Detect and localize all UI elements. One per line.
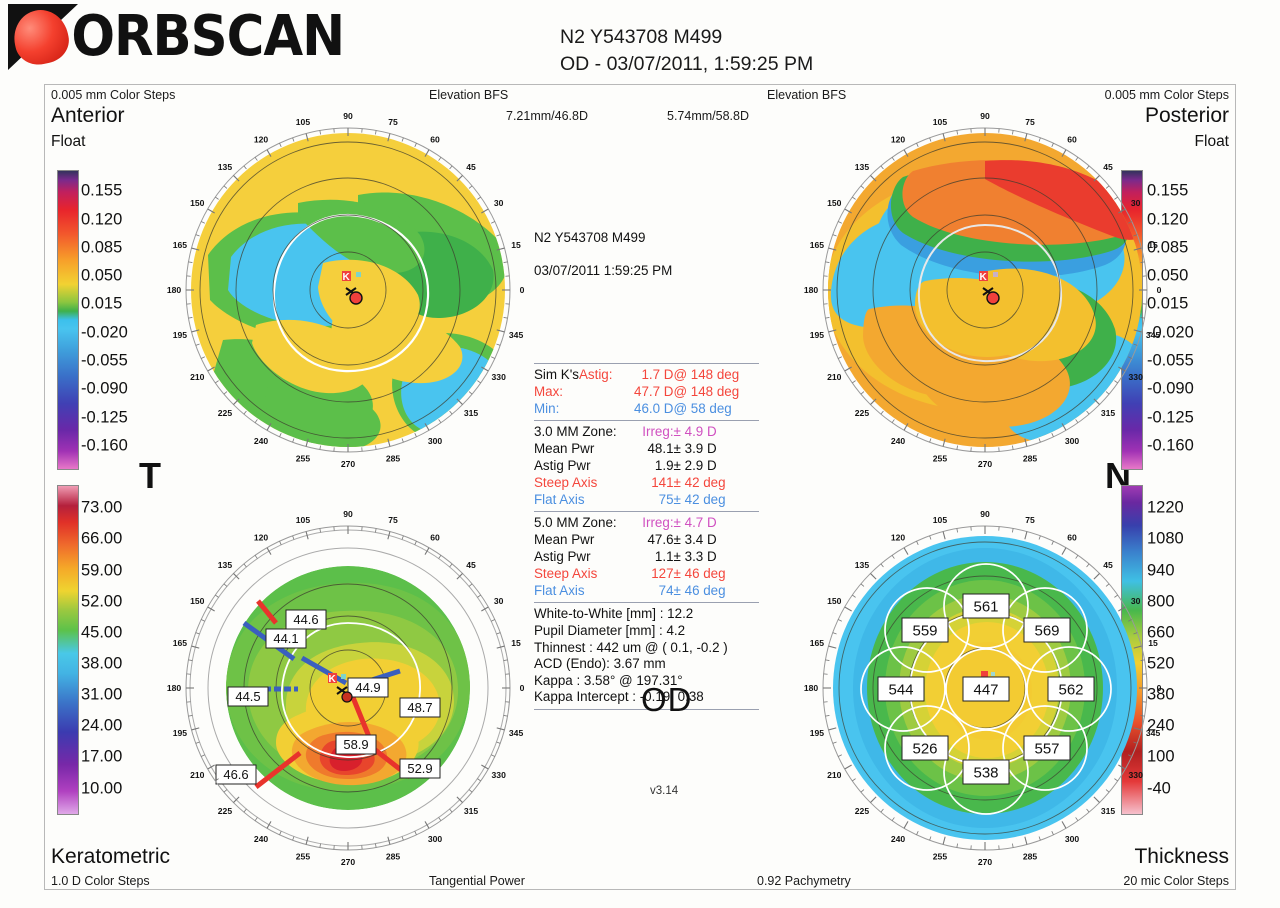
dial-tick (496, 742, 500, 743)
dial-tick (1094, 797, 1100, 803)
dial-tick (224, 186, 227, 189)
dial-tick (188, 660, 192, 661)
zone-row-value: 127 (626, 566, 674, 583)
zone-row-label: Flat Axis (534, 583, 626, 600)
biometry-line: Thinnest : 442 um @ ( 0.1, -0.2 ) (534, 640, 759, 657)
colorbar-tick-label: -0.125 (81, 408, 128, 427)
dial-tick (491, 357, 495, 359)
dial-tick (196, 235, 200, 236)
dial-tick (201, 755, 205, 757)
zone3-table: 3.0 MM Zone:Irreg:± 4.9 DMean Pwr48.1± 3… (534, 424, 759, 508)
dial-tick (1012, 528, 1013, 532)
dial-tick (838, 357, 842, 359)
dial-tick (491, 620, 495, 622)
dial-tick (1128, 222, 1132, 224)
report-header: ORBSCAN N2 Y543708 M499 OD - 03/07/2011,… (0, 0, 1280, 84)
map-anterior-elevation[interactable]: K 01530456075901051201351501651801952102… (148, 85, 548, 495)
dial-tick (1087, 809, 1090, 812)
dial-tick (1141, 660, 1145, 661)
colorbar-tick-label: 10.00 (81, 779, 122, 798)
dial-tick (833, 742, 837, 743)
dial-degree-label: 285 (1023, 851, 1038, 861)
dial-degree-label: 195 (810, 728, 825, 738)
dial-tick (1076, 419, 1078, 422)
dial-degree-label: 165 (173, 638, 188, 648)
dial-tick (957, 528, 958, 532)
dial-tick (825, 715, 829, 716)
pachymetry-value-label: 569 (1034, 623, 1059, 640)
dial-tick (244, 564, 247, 567)
sim-k-table: Sim K'sAstig:1.7 D@ 148 degMax:47.7 D@ 1… (534, 367, 759, 417)
dial-tick (1106, 392, 1109, 395)
dial-tick (1012, 130, 1013, 134)
dial-tick (861, 790, 864, 793)
zone-row-value: 1.1 (626, 549, 674, 566)
dial-degree-label: 75 (388, 515, 398, 525)
colorbar-tick-label: 0.015 (81, 295, 122, 314)
dial-tick (1052, 541, 1054, 545)
dial-tick (852, 779, 855, 781)
zone-row-label: Astig Pwr (534, 549, 626, 566)
dial-degree-label: 300 (428, 436, 443, 446)
zone-row-value: 1.9 (626, 458, 674, 475)
dial-degree-label: 135 (855, 162, 870, 172)
dial-degree-label: 180 (804, 683, 819, 693)
keratometric-value-label: 44.6 (293, 612, 318, 627)
dial-degree-label: 0 (1157, 285, 1162, 295)
keratometric-value-label: 48.7 (407, 700, 432, 715)
dial-degree-label: 345 (1146, 330, 1161, 340)
dial-tick (1025, 532, 1027, 540)
dial-tick (845, 607, 852, 611)
zone-row-sd: ± 42 deg (674, 492, 759, 509)
dial-tick (201, 357, 205, 359)
dial-tick (425, 821, 429, 828)
dial-tick (1141, 715, 1145, 716)
dial-tick (861, 584, 864, 587)
pachymetry-value-label: 557 (1034, 741, 1059, 758)
dial-tick (825, 660, 829, 661)
dial-tick (1128, 620, 1132, 622)
dial-tick (320, 844, 321, 848)
dial-degree-label: 240 (891, 834, 906, 844)
dial-tick (1106, 584, 1109, 587)
colorbar-tick-label: -0.055 (81, 352, 128, 371)
zone-row-label: Steep Axis (534, 566, 626, 583)
dial-tick (825, 262, 829, 263)
dial-tick (852, 595, 855, 597)
dial-tick (208, 765, 215, 769)
dial-degree-label: 120 (891, 135, 906, 145)
dial-tick (1133, 344, 1137, 345)
dial-degree-label: 210 (827, 770, 842, 780)
dial-tick (852, 381, 855, 383)
dial-degree-label: 75 (1025, 515, 1035, 525)
dial-tick (439, 817, 441, 820)
dial-tick (1025, 837, 1027, 845)
zone-row: Astig Pwr1.9± 2.9 D (534, 458, 759, 475)
dial-tick (917, 831, 919, 835)
dial-degree-label: 270 (978, 857, 993, 867)
zone-row-label: Astig Pwr (534, 458, 626, 475)
dial-tick (224, 790, 227, 793)
dial-degree-label: 30 (1131, 596, 1141, 606)
dial-tick (957, 844, 958, 848)
simk-axis: @ 148 deg (673, 367, 759, 384)
dial-degree-label: 45 (466, 162, 476, 172)
dial-tick (1128, 357, 1132, 359)
anterior-subtitle: Float (51, 133, 85, 151)
dial-tick (477, 779, 480, 781)
dial-tick (1114, 197, 1117, 199)
zone-row-label: Mean Pwr (534, 441, 626, 458)
dial-tick (244, 166, 247, 169)
dial-degree-label: 315 (464, 408, 479, 418)
keratometric-value-label: 58.9 (343, 737, 368, 752)
dial-tick (504, 262, 508, 263)
zone-row-sd: ± 3.3 D (674, 549, 759, 566)
colorbar-tick-label: 0.120 (81, 210, 122, 229)
dial-degree-label: 105 (933, 515, 948, 525)
dial-tick (1062, 548, 1066, 555)
colorbar-tick-label: 66.00 (81, 530, 122, 549)
dial-tick (201, 620, 205, 622)
dial-tick (1133, 235, 1137, 236)
dial-degree-label: 270 (341, 459, 356, 469)
dial-tick (425, 548, 429, 555)
colorbar-tick-label: 59.00 (81, 561, 122, 580)
keratometric-value-label: 44.9 (355, 680, 380, 695)
dial-tick (450, 411, 453, 414)
dial-tick (415, 143, 417, 147)
dial-tick (1094, 573, 1100, 579)
dial-degree-label: 225 (855, 806, 870, 816)
colorbar-tick-label: 45.00 (81, 623, 122, 642)
zone-row: Flat Axis75± 42 deg (534, 492, 759, 509)
zone-row-sd: ± 46 deg (674, 566, 759, 583)
dial-tick (439, 555, 441, 558)
dial-degree-label: 210 (827, 372, 842, 382)
dial-tick (320, 130, 321, 134)
dial-tick (917, 433, 919, 437)
orbscan-report-page: ORBSCAN N2 Y543708 M499 OD - 03/07/2011,… (0, 0, 1280, 908)
dial-degree-label: 255 (933, 453, 948, 463)
dial-tick (838, 755, 842, 757)
keratometric-value-label: 44.5 (235, 689, 260, 704)
dial-tick (375, 528, 376, 532)
dial-tick (838, 620, 842, 622)
dial-degree-label: 285 (386, 851, 401, 861)
dial-tick (1118, 607, 1125, 611)
dial-tick (1118, 765, 1125, 769)
posterior-subtitle: Float (1195, 133, 1229, 151)
zone-irreg-label: Irreg: (626, 515, 674, 532)
zone-irreg-label: Irreg: (626, 424, 674, 441)
dial-degree-label: 285 (386, 453, 401, 463)
dial-tick (244, 411, 247, 414)
dial-degree-label: 240 (254, 834, 269, 844)
zone-row-sd: ± 3.9 D (674, 441, 759, 458)
dial-degree-label: 255 (296, 851, 311, 861)
dial-tick (1012, 844, 1013, 848)
dial-tick (477, 197, 480, 199)
dial-tick (957, 130, 958, 134)
dial-tick (1052, 143, 1054, 147)
dial-tick (930, 138, 931, 142)
dial-tick (496, 344, 500, 345)
dial-tick (402, 138, 403, 142)
svg-text:K: K (980, 272, 988, 283)
dial-tick (201, 222, 205, 224)
svg-text:K: K (343, 272, 351, 283)
biometry-line: White-to-White [mm] : 12.2 (534, 606, 759, 623)
posterior-bfs: 5.74mm/58.8D (667, 109, 749, 123)
dial-tick (208, 607, 215, 611)
dial-degree-label: 105 (296, 117, 311, 127)
dial-degree-label: 240 (254, 436, 269, 446)
keratometric-color-steps: 1.0 D Color Steps (51, 874, 150, 888)
dial-degree-label: 225 (218, 408, 233, 418)
dial-tick (870, 797, 876, 803)
dial-tick (504, 660, 508, 661)
dial-tick (943, 532, 945, 540)
dial-degree-label: 15 (1148, 638, 1158, 648)
map-keratometric-tangential[interactable]: 44.644.144.944.548.758.952.946.6 K 01530… (148, 483, 548, 893)
simk-row: Min:46.0 D@ 58 deg (534, 401, 759, 418)
zone-row-label: Steep Axis (534, 475, 626, 492)
colorbar-anterior-elevation: 0.1550.1200.0850.0500.015-0.020-0.055-0.… (57, 170, 161, 470)
dial-tick (1114, 381, 1117, 383)
pachymetry-value-label: 562 (1058, 682, 1083, 699)
colorbar-tick-label: -0.160 (81, 436, 128, 455)
dial-tick (1087, 564, 1090, 567)
dial-tick (267, 821, 271, 828)
dial-tick (892, 817, 894, 820)
zone-row-value: 48.1 (626, 441, 674, 458)
dial-degree-label: 195 (173, 728, 188, 738)
dial-degree-label: 75 (388, 117, 398, 127)
dial-degree-label: 90 (980, 509, 990, 519)
dial-degree-label: 45 (466, 560, 476, 570)
simk-axis: @ 58 deg (673, 401, 759, 418)
dial-degree-label: 165 (173, 240, 188, 250)
dial-tick (415, 541, 417, 545)
header-patient-info: N2 Y543708 M499 OD - 03/07/2011, 1:59:25… (560, 24, 813, 78)
zone-row: Mean Pwr48.1± 3.9 D (534, 441, 759, 458)
panel-patient-id: N2 Y543708 M499 (534, 230, 759, 247)
colorbar-tick-label: 24.00 (81, 717, 122, 736)
dial-tick (829, 728, 837, 730)
dial-degree-label: 180 (167, 683, 182, 693)
dial-tick (196, 633, 200, 634)
dial-tick (829, 646, 837, 648)
zone-row-label: Flat Axis (534, 492, 626, 509)
dial-degree-label: 60 (1067, 533, 1077, 543)
dial-tick (196, 742, 200, 743)
dial-tick (1133, 633, 1137, 634)
dial-degree-label: 15 (1148, 240, 1158, 250)
colorbar-keratometric: 73.0066.0059.0052.0045.0038.0031.0024.00… (57, 485, 161, 815)
simk-heading: Sim K'sAstig: (534, 367, 626, 384)
simk-value: 47.7 D (626, 384, 674, 401)
dial-tick (255, 555, 257, 558)
dial-tick (1087, 411, 1090, 414)
dial-degree-label: 120 (254, 533, 269, 543)
dial-degree-label: 30 (494, 596, 504, 606)
dial-tick (1114, 595, 1117, 597)
map-posterior-elevation[interactable]: K 01530456075901051201351501651801952102… (785, 85, 1185, 495)
zone-row-value: 141 (626, 475, 674, 492)
dial-degree-label: 0 (520, 285, 525, 295)
dial-tick (375, 130, 376, 134)
dial-tick (469, 392, 472, 395)
dial-tick (930, 836, 931, 840)
simk-row: Max:47.7 D@ 148 deg (534, 384, 759, 401)
colorbar-gradient-elevation-left (57, 170, 79, 470)
zone-row-value: 47.6 (626, 532, 674, 549)
dial-degree-label: 135 (855, 560, 870, 570)
biometry-line: ACD (Endo): 3.67 mm (534, 656, 759, 673)
dial-degree-label: 30 (494, 198, 504, 208)
dial-degree-label: 105 (296, 515, 311, 525)
zone-row-sd: ± 42 deg (674, 475, 759, 492)
map-pachymetry-thickness[interactable]: 447561569559544562526557538 015304560759… (785, 483, 1185, 893)
colorbar-tick-label: 52.00 (81, 592, 122, 611)
dial-tick (469, 584, 472, 587)
dial-tick (833, 633, 837, 634)
dial-tick (943, 837, 945, 845)
teardrop-logo-icon (8, 4, 78, 70)
dial-tick (293, 536, 294, 540)
dial-degree-label: 225 (855, 408, 870, 418)
pachymetry-value-label: 447 (973, 682, 998, 699)
dial-tick (469, 790, 472, 793)
dial-tick (892, 157, 894, 160)
simk-value: 46.0 D (626, 401, 674, 418)
dial-tick (1076, 555, 1078, 558)
zone-row-label: Mean Pwr (534, 532, 626, 549)
dial-degree-label: 225 (218, 806, 233, 816)
header-patient-line: N2 Y543708 M499 (560, 24, 813, 51)
dial-tick (415, 433, 417, 437)
dial-degree-label: 180 (167, 285, 182, 295)
panel-exam-datetime: 03/07/2011 1:59:25 PM (534, 263, 759, 280)
dial-degree-label: 180 (804, 285, 819, 295)
dial-tick (504, 715, 508, 716)
keratometric-value-label: 52.9 (407, 761, 432, 776)
dial-degree-label: 90 (343, 111, 353, 121)
dial-degree-label: 270 (978, 459, 993, 469)
dial-degree-label: 150 (190, 198, 205, 208)
pachymetry-value-label: 538 (973, 765, 998, 782)
dial-tick (904, 548, 908, 555)
dial-tick (196, 344, 200, 345)
dial-tick (1128, 755, 1132, 757)
dial-tick (833, 344, 837, 345)
dial-degree-label: 30 (1131, 198, 1141, 208)
pachymetry-value-label: 561 (973, 599, 998, 616)
dial-degree-label: 15 (511, 240, 521, 250)
pachymetry-value-label: 544 (888, 682, 913, 699)
dial-degree-label: 75 (1025, 117, 1035, 127)
dial-degree-label: 120 (891, 533, 906, 543)
zone-row-value: 75 (626, 492, 674, 509)
dial-degree-label: 15 (511, 638, 521, 648)
zone-row: Flat Axis74± 46 deg (534, 583, 759, 600)
dial-tick (881, 809, 884, 812)
dial-tick (496, 633, 500, 634)
dial-tick (881, 411, 884, 414)
dial-tick (320, 446, 321, 450)
dial-tick (469, 186, 472, 189)
dial-tick (255, 817, 257, 820)
dial-tick (188, 262, 192, 263)
dial-tick (255, 419, 257, 422)
dial-degree-label: 60 (430, 135, 440, 145)
zone-row-value: 74 (626, 583, 674, 600)
dial-degree-label: 150 (190, 596, 205, 606)
dial-tick (280, 541, 282, 545)
pachymetry-value-label: 526 (912, 741, 937, 758)
dial-tick (320, 528, 321, 532)
dial-degree-label: 45 (1103, 560, 1113, 570)
colorbar-tick-label: -0.020 (81, 323, 128, 342)
dial-tick (838, 222, 842, 224)
dial-degree-label: 195 (173, 330, 188, 340)
dial-tick (481, 765, 488, 769)
svg-text:K: K (329, 674, 337, 685)
colorbar-tick-label: 17.00 (81, 748, 122, 767)
dial-degree-label: 135 (218, 560, 233, 570)
dial-tick (402, 536, 403, 540)
dial-tick (904, 821, 908, 828)
zone-row: Mean Pwr47.6± 3.4 D (534, 532, 759, 549)
dial-tick (930, 438, 931, 442)
dial-degree-label: 315 (464, 806, 479, 816)
dial-degree-label: 240 (891, 436, 906, 446)
dial-degree-label: 345 (509, 728, 524, 738)
dial-tick (280, 831, 282, 835)
dial-tick (402, 836, 403, 840)
dial-degree-label: 210 (190, 372, 205, 382)
colorbar-tick-label: 73.00 (81, 499, 122, 518)
dial-tick (188, 317, 192, 318)
dial-degree-label: 195 (810, 330, 825, 340)
dial-tick (1012, 446, 1013, 450)
zone-row: Astig Pwr1.1± 3.3 D (534, 549, 759, 566)
dial-tick (255, 157, 257, 160)
dial-tick (861, 392, 864, 395)
dial-degree-label: 105 (933, 117, 948, 127)
dial-degree-label: 120 (254, 135, 269, 145)
dial-tick (892, 419, 894, 422)
dial-degree-label: 60 (1067, 135, 1077, 145)
dial-degree-label: 165 (810, 240, 825, 250)
divider-top (534, 363, 759, 364)
dial-degree-label: 270 (341, 857, 356, 867)
dial-degree-label: 255 (296, 453, 311, 463)
dial-tick (1087, 166, 1090, 169)
dial-tick (1039, 438, 1040, 442)
dial-tick (491, 755, 495, 757)
dial-tick (917, 143, 919, 147)
dial-tick (477, 595, 480, 597)
dial-tick (280, 433, 282, 437)
dial-degree-label: 345 (509, 330, 524, 340)
colorbar-tick-label: 38.00 (81, 655, 122, 674)
zone-row: Steep Axis127± 46 deg (534, 566, 759, 583)
dial-tick (1133, 742, 1137, 743)
